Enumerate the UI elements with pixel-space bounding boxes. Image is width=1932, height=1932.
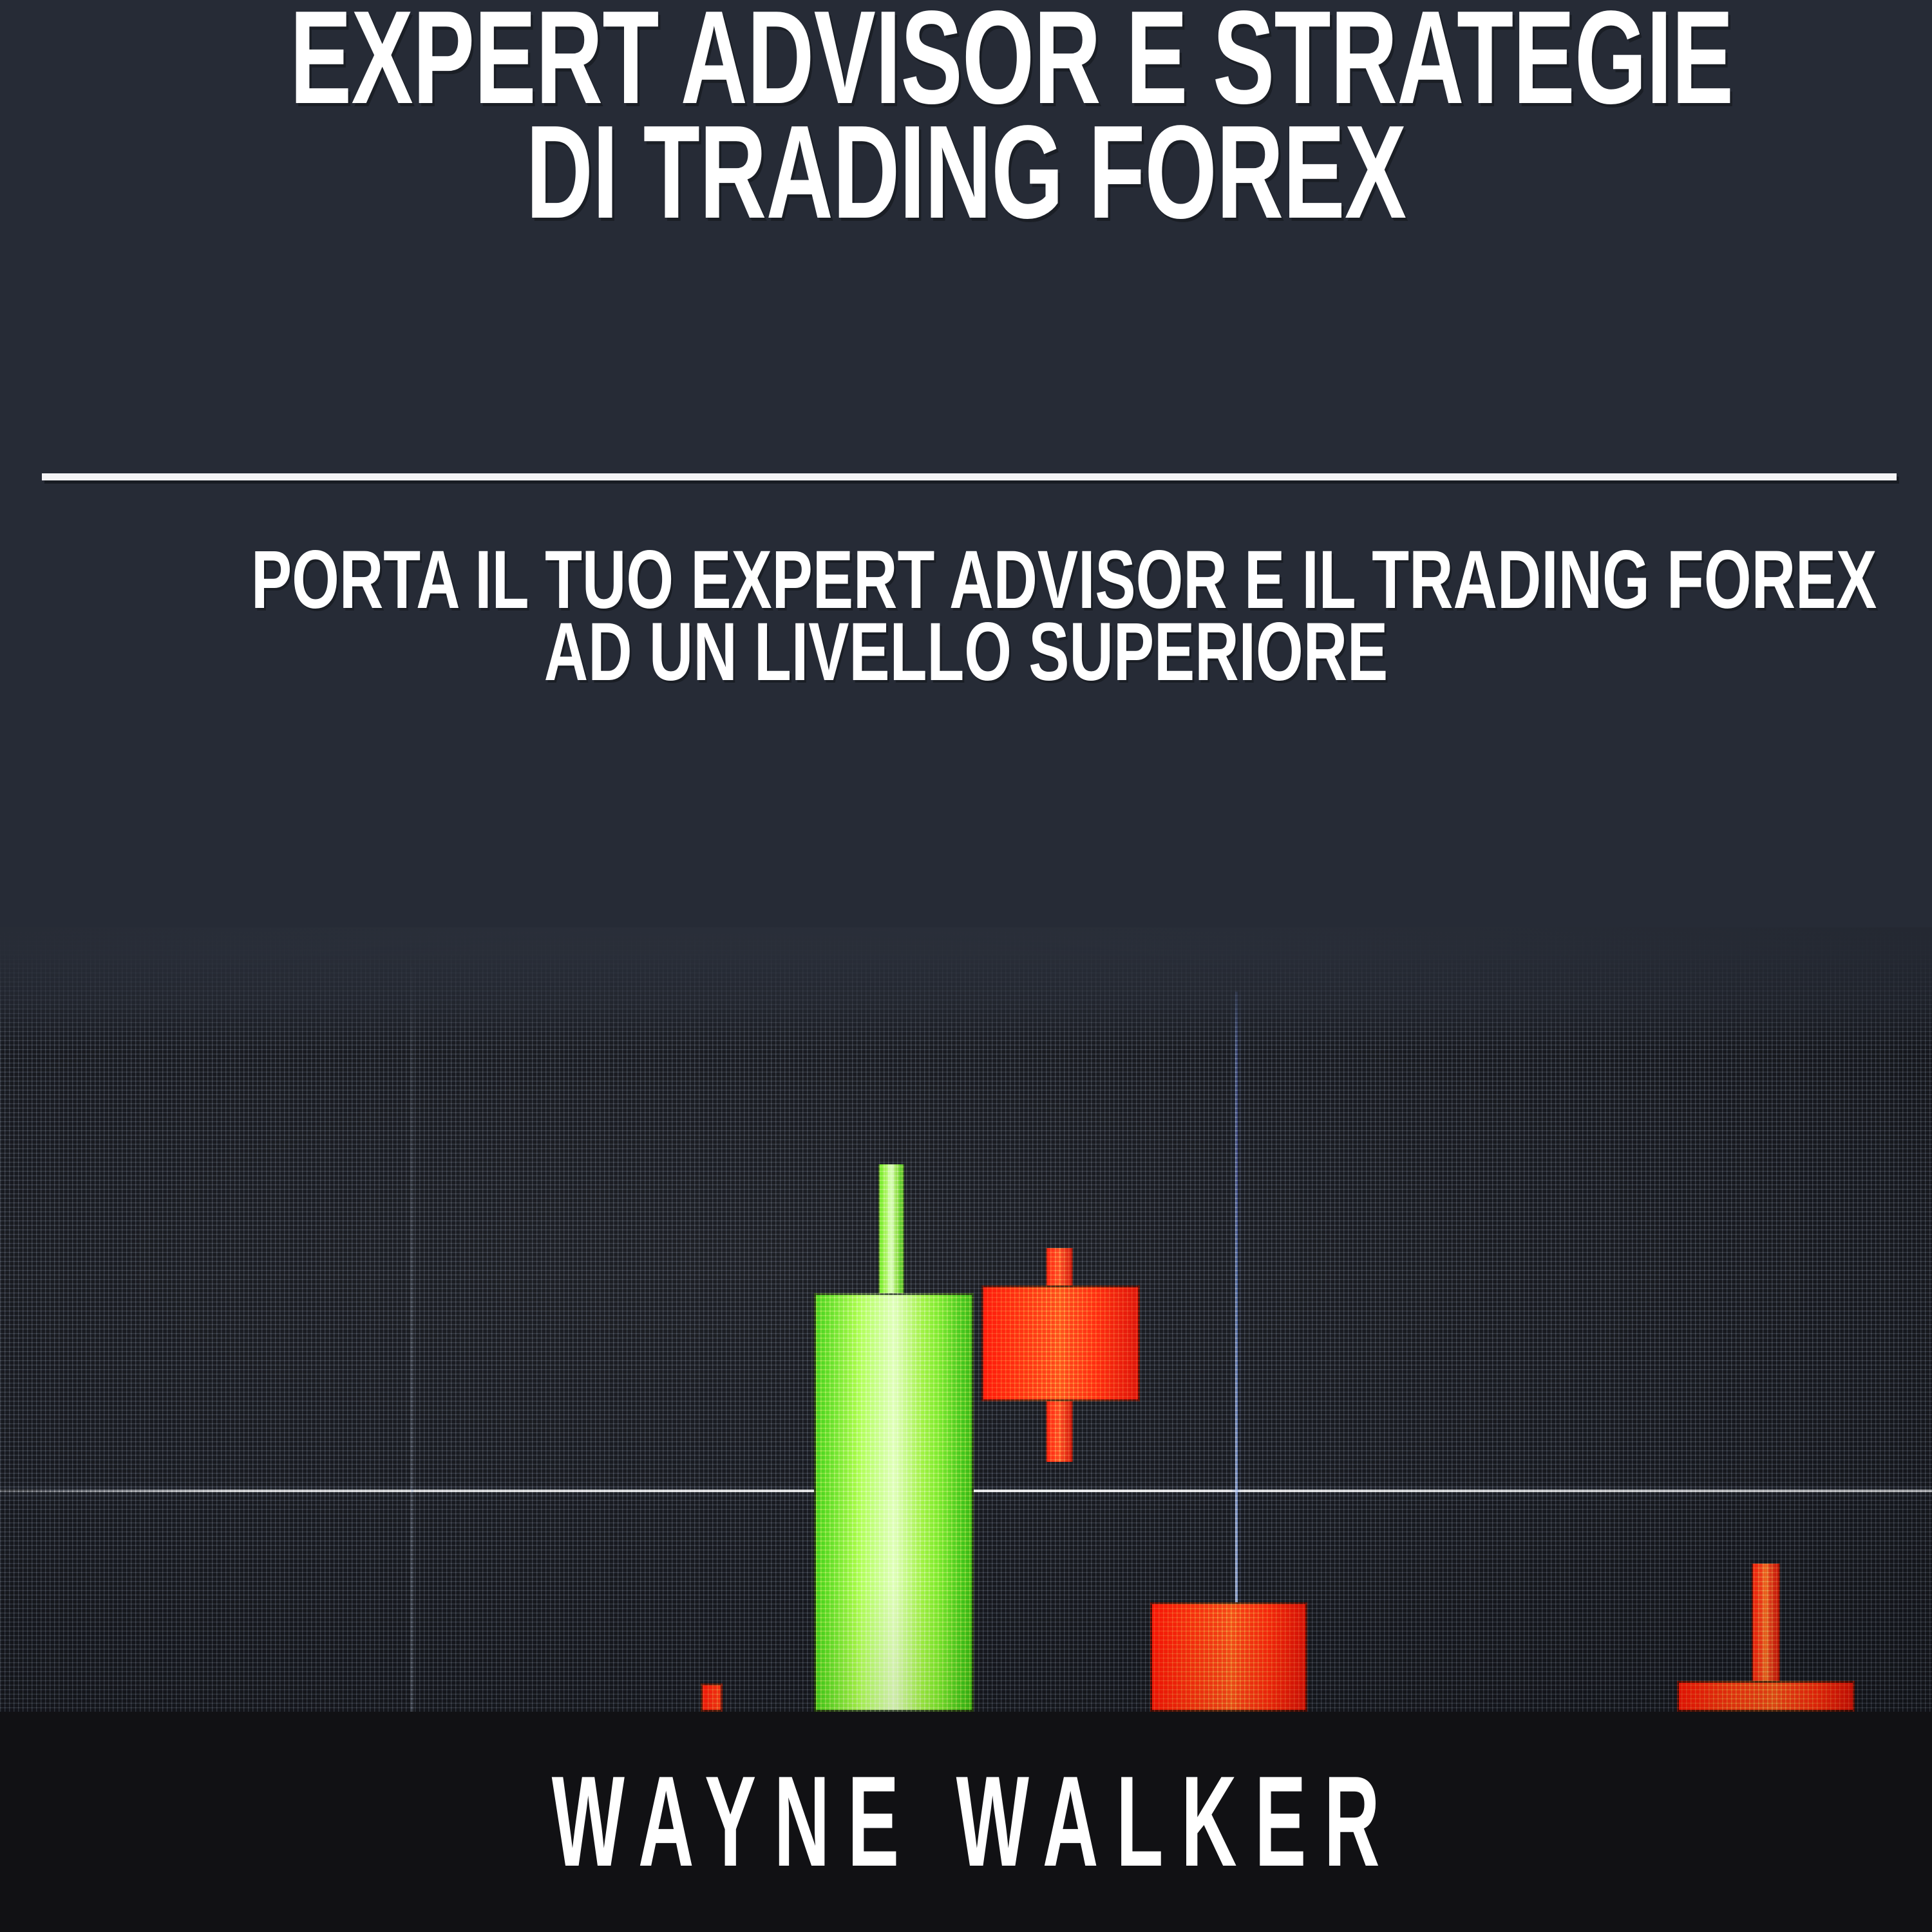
candle-wick-upper (878, 1164, 904, 1300)
title-line-2: DI TRADING FOREX (290, 115, 1642, 229)
candlestick-bearish-5 (1677, 1681, 1855, 1712)
candlestick-bearish-3 (981, 1285, 1140, 1401)
book-title: EXPERT ADVISOR E STRATEGIE DI TRADING FO… (0, 0, 1932, 229)
book-subtitle: PORTA IL TUO EXPERT ADVISOR E IL TRADING… (0, 544, 1932, 688)
book-cover: EXPERT ADVISOR E STRATEGIE DI TRADING FO… (0, 0, 1932, 1932)
author-band: WAYNE WALKER (0, 1712, 1932, 1932)
screen-top-fade (0, 927, 1932, 1050)
chart-gridline-vertical-left (411, 966, 413, 1712)
author-name: WAYNE WALKER (534, 1757, 1397, 1886)
candlestick-bullish-2 (814, 1293, 974, 1712)
candle-wick-lower (1046, 1397, 1073, 1462)
subtitle-line-2: AD UN LIVELLO SUPERIORE (251, 616, 1681, 688)
trading-chart-screen (0, 927, 1932, 1712)
candle-wick-upper (1752, 1564, 1780, 1685)
title-divider-rule (42, 473, 1897, 480)
candle-wick-upper (1046, 1248, 1073, 1289)
candlestick-bearish-1 (701, 1683, 723, 1712)
candlestick-bearish-4 (1150, 1602, 1307, 1712)
